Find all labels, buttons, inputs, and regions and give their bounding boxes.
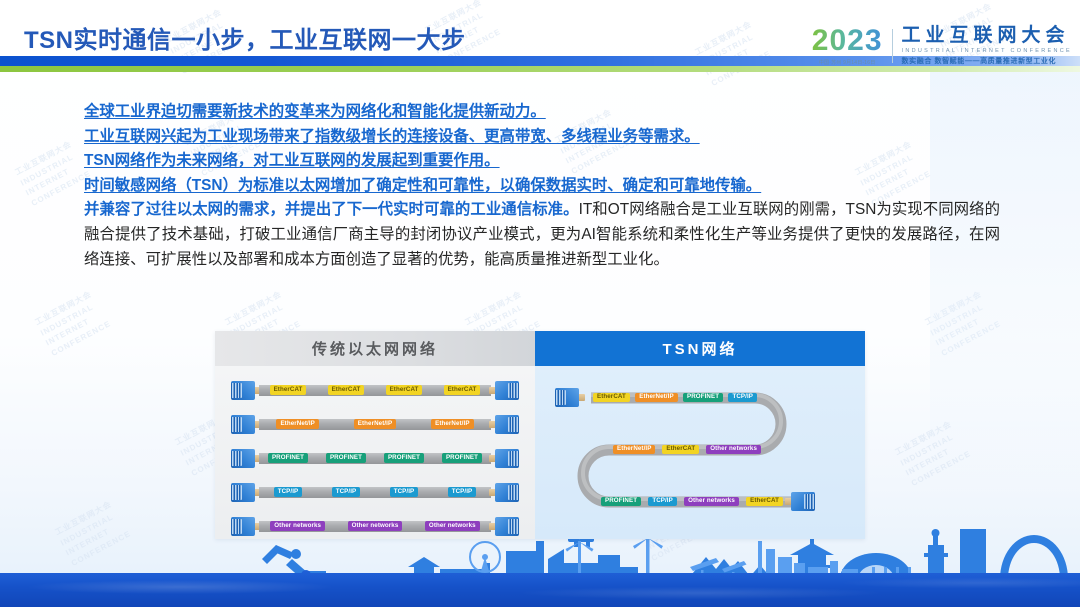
solar-panel-icon	[690, 558, 747, 579]
logo-slogan: 数实融合 数智赋能——高质量推进新型工业化	[902, 56, 1072, 66]
cable-wire: Other networks Other networks Other netw…	[259, 521, 491, 532]
protocol-tag: PROFINET	[384, 453, 424, 462]
protocol-tag: Other networks	[706, 445, 761, 454]
logo-name-block: 工业互联网大会 INDUSTRIAL INTERNET CONFERENCE 数…	[893, 26, 1072, 66]
sea-band	[0, 573, 1080, 607]
diagram-panels: EtherCAT EtherCAT EtherCAT EtherCAT Ethe…	[215, 366, 865, 539]
factory-machine-icon	[330, 557, 490, 579]
body-line-highlight-2: 工业互联网兴起为工业现场带来了指数级增长的连接设备、更高带宽、多线程业务等需求。	[84, 128, 700, 145]
rj45-plug-icon	[231, 415, 261, 434]
legacy-network-panel: EtherCAT EtherCAT EtherCAT EtherCAT Ethe…	[215, 366, 535, 539]
slide-canvas: 工业互联网大会 INDUSTRIAL INTERNET CONFERENCE 工…	[0, 0, 1080, 607]
protocol-tag: EtherCAT	[593, 393, 630, 402]
protocol-tag: EtherNet/IP	[431, 419, 473, 428]
body-line: 时间敏感网络（TSN）为标准以太网增加了确定性和可靠性，以确保数据实时、确定和可…	[84, 174, 1000, 199]
conference-logo: 2023 中国·苏州 9月14日-16日 工业互联网大会 INDUSTRIAL …	[812, 26, 1072, 66]
logo-name-en: INDUSTRIAL INTERNET CONFERENCE	[902, 48, 1072, 54]
cable-wire: EtherNet/IP EtherNet/IP EtherNet/IP	[259, 419, 491, 430]
protocol-tag: PROFINET	[683, 393, 723, 402]
mountain-icon	[688, 557, 772, 579]
stadium-icon	[840, 553, 912, 579]
logo-name-cn: 工业互联网大会	[902, 26, 1072, 46]
tsn-network-header: TSN网络	[535, 331, 865, 366]
protocol-tag: PROFINET	[326, 453, 366, 462]
watermark: 工业互联网大会 INDUSTRIAL INTERNET CONFERENCE	[33, 287, 113, 359]
tsn-network-panel: EtherCAT EtherNet/IP PROFINET TCP/IP Eth…	[535, 366, 865, 539]
body-line-highlight-3: TSN网络作为未来网络，对工业互联网的发展起到重要作用。	[84, 152, 500, 169]
rj45-plug-icon	[489, 517, 519, 536]
protocol-tag: EtherCAT	[746, 497, 783, 506]
body-line-highlight-5: 并兼容了过往以太网的需求，并提出了下一代实时可靠的工业通信标准。	[84, 201, 579, 218]
tsn-tag-row: EtherCAT EtherNet/IP PROFINET TCP/IP	[593, 392, 757, 403]
logo-year: 2023	[812, 26, 883, 56]
protocol-tag: Other networks	[348, 521, 403, 530]
robot-arm-icon	[262, 545, 326, 579]
logo-year-block: 2023 中国·苏州 9月14日-16日	[812, 26, 892, 66]
rj45-plug-icon	[231, 449, 261, 468]
network-comparison-diagram: 传统以太网网络 TSN网络 EtherCAT EtherCAT EtherCAT…	[215, 331, 865, 539]
protocol-tag: TCP/IP	[648, 497, 677, 506]
rj45-plug-icon	[489, 415, 519, 434]
protocol-tag: TCP/IP	[390, 487, 419, 496]
body-line: 全球工业界迫切需要新技术的变革来为网络化和智能化提供新动力。	[84, 100, 1000, 125]
rj45-plug-icon	[489, 381, 519, 400]
watermark: 工业互联网大会 INDUSTRIAL INTERNET CONFERENCE	[893, 417, 973, 489]
watermark: 工业互联网大会 INDUSTRIAL INTERNET CONFERENCE	[13, 137, 93, 209]
protocol-tag: EtherNet/IP	[635, 393, 677, 402]
body-line-highlight-1: 全球工业界迫切需要新技术的变革来为网络化和智能化提供新动力。	[84, 103, 546, 120]
divider-green-bar	[0, 66, 1080, 72]
protocol-tag: PROFINET	[442, 453, 482, 462]
rj45-plug-icon	[785, 492, 815, 511]
cable-row: TCP/IP TCP/IP TCP/IP TCP/IP	[231, 480, 519, 504]
protocol-tag: EtherCAT	[386, 385, 423, 394]
body-line: TSN网络作为未来网络，对工业互联网的发展起到重要作用。	[84, 149, 1000, 174]
protocol-tag: TCP/IP	[332, 487, 361, 496]
cable-row: PROFINET PROFINET PROFINET PROFINET	[231, 446, 519, 470]
protocol-tag: Other networks	[425, 521, 480, 530]
protocol-tag: TCP/IP	[448, 487, 477, 496]
protocol-tag: EtherNet/IP	[613, 445, 655, 454]
diagram-headers: 传统以太网网络 TSN网络	[215, 331, 865, 366]
protocol-tag: PROFINET	[601, 497, 641, 506]
rj45-plug-icon	[231, 381, 261, 400]
protocol-tag: EtherCAT	[444, 385, 481, 394]
cable-wire: TCP/IP TCP/IP TCP/IP TCP/IP	[259, 487, 491, 498]
arch-bridge-icon	[1000, 535, 1068, 579]
legacy-network-header: 传统以太网网络	[215, 331, 535, 366]
tsn-tag-row: PROFINET TCP/IP Other networks EtherCAT	[601, 496, 783, 507]
cable-wire: PROFINET PROFINET PROFINET PROFINET	[259, 453, 491, 464]
rj45-plug-icon	[555, 388, 585, 407]
page-title: TSN实时通信一小步，工业互联网一大步	[24, 20, 466, 55]
protocol-tag: EtherCAT	[662, 445, 699, 454]
protocol-tag: PROFINET	[268, 453, 308, 462]
protocol-tag: EtherNet/IP	[354, 419, 396, 428]
watermark: 工业互联网大会 INDUSTRIAL INTERNET CONFERENCE	[53, 497, 133, 569]
cable-row: EtherCAT EtherCAT EtherCAT EtherCAT	[231, 378, 519, 402]
protocol-tag: EtherNet/IP	[276, 419, 318, 428]
protocol-tag: Other networks	[270, 521, 325, 530]
cable-row: EtherNet/IP EtherNet/IP EtherNet/IP	[231, 412, 519, 436]
protocol-tag: TCP/IP	[728, 393, 757, 402]
protocol-tag: EtherCAT	[270, 385, 307, 394]
ferris-wheel-icon	[470, 542, 500, 572]
body-paragraph-tail: 并兼容了过往以太网的需求，并提出了下一代实时可靠的工业通信标准。IT和OT网络融…	[84, 198, 1000, 272]
body-line-highlight-4: 时间敏感网络（TSN）为标准以太网增加了确定性和可靠性，以确保数据实时、确定和可…	[84, 177, 761, 194]
rj45-plug-icon	[489, 449, 519, 468]
watermark: 工业互联网大会 INDUSTRIAL INTERNET CONFERENCE	[923, 287, 1003, 359]
body-line: 工业互联网兴起为工业现场带来了指数级增长的连接设备、更高带宽、多线程业务等需求。	[84, 125, 1000, 150]
logo-year-subtitle: 中国·苏州 9月14日-16日	[819, 59, 876, 66]
rj45-plug-icon	[231, 483, 261, 502]
body-text-block: 全球工业界迫切需要新技术的变革来为网络化和智能化提供新动力。 工业互联网兴起为工…	[84, 100, 1000, 272]
rj45-plug-icon	[489, 483, 519, 502]
cable-wire: EtherCAT EtherCAT EtherCAT EtherCAT	[259, 385, 491, 396]
protocol-tag: EtherCAT	[328, 385, 365, 394]
rj45-plug-icon	[231, 517, 261, 536]
tsn-serpentine-cable: EtherCAT EtherNet/IP PROFINET TCP/IP Eth…	[535, 366, 865, 539]
protocol-tag: Other networks	[684, 497, 739, 506]
tower-icon	[924, 529, 948, 579]
highrise-icon	[960, 529, 986, 579]
tsn-tag-row: EtherNet/IP EtherCAT Other networks	[613, 444, 761, 455]
cable-row: Other networks Other networks Other netw…	[231, 514, 519, 538]
protocol-tag: TCP/IP	[274, 487, 303, 496]
